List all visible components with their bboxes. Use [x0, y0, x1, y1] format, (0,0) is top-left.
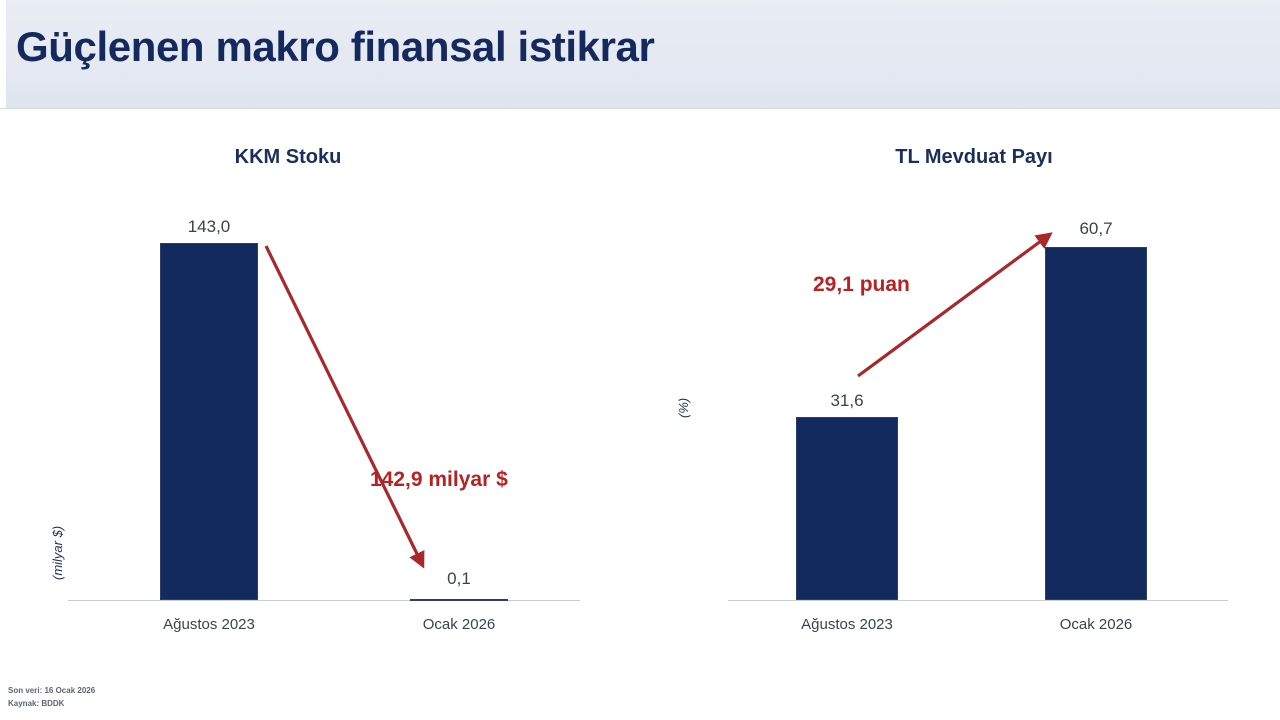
bar-value-tl-mevduat-ocak-2026: 60,7 [1045, 219, 1147, 239]
bar-value-tl-mevduat-agustos-2023: 31,6 [796, 391, 898, 411]
bar-tl-mevduat-ocak-2026[interactable] [1045, 247, 1147, 600]
header-band: Güçlenen makro finansal istikrar [0, 0, 1280, 109]
y-axis-label-tl-mevduat: (%) [676, 398, 691, 418]
cat-label-tl-mevduat-agustos-2023: Ağustos 2023 [782, 616, 912, 633]
cat-label-tl-mevduat-ocak-2026: Ocak 2026 [1031, 616, 1161, 633]
bar-kkm-agustos-2023[interactable] [160, 243, 258, 600]
bar-tl-mevduat-agustos-2023[interactable] [796, 417, 898, 600]
chart-kkm-stoku: KKM Stoku (milyar $) 143,0 0,1 Ağustos 2… [0, 108, 640, 668]
footer-source: Kaynak: BDDK [8, 697, 95, 710]
footer-note: Son veri: 16 Ocak 2026 Kaynak: BDDK [8, 684, 95, 710]
annotation-text-tl-mevduat: 29,1 puan [813, 273, 910, 297]
annotation-text-kkm: 142,9 milyar $ [370, 468, 508, 492]
annotation-arrow-kkm [0, 108, 640, 668]
x-axis-line-tl-mevduat [728, 600, 1228, 601]
bar-value-kkm-agustos-2023: 143,0 [160, 217, 258, 237]
bar-kkm-ocak-2026[interactable] [410, 599, 508, 601]
cat-label-kkm-ocak-2026: Ocak 2026 [394, 616, 524, 633]
chart-title-tl-mevduat: TL Mevduat Payı [654, 146, 1280, 169]
chart-tl-mevduat-payi: TL Mevduat Payı (%) 31,6 60,7 Ağustos 20… [640, 108, 1280, 668]
page-title: Güçlenen makro finansal istikrar [16, 23, 654, 71]
footer-last-data: Son veri: 16 Ocak 2026 [8, 684, 95, 697]
cat-label-kkm-agustos-2023: Ağustos 2023 [144, 616, 274, 633]
chart-title-kkm: KKM Stoku [0, 146, 608, 169]
bar-value-kkm-ocak-2026: 0,1 [410, 569, 508, 589]
y-axis-label-kkm: (milyar $) [50, 526, 65, 580]
annotation-arrow-tl-mevduat [640, 108, 1280, 668]
